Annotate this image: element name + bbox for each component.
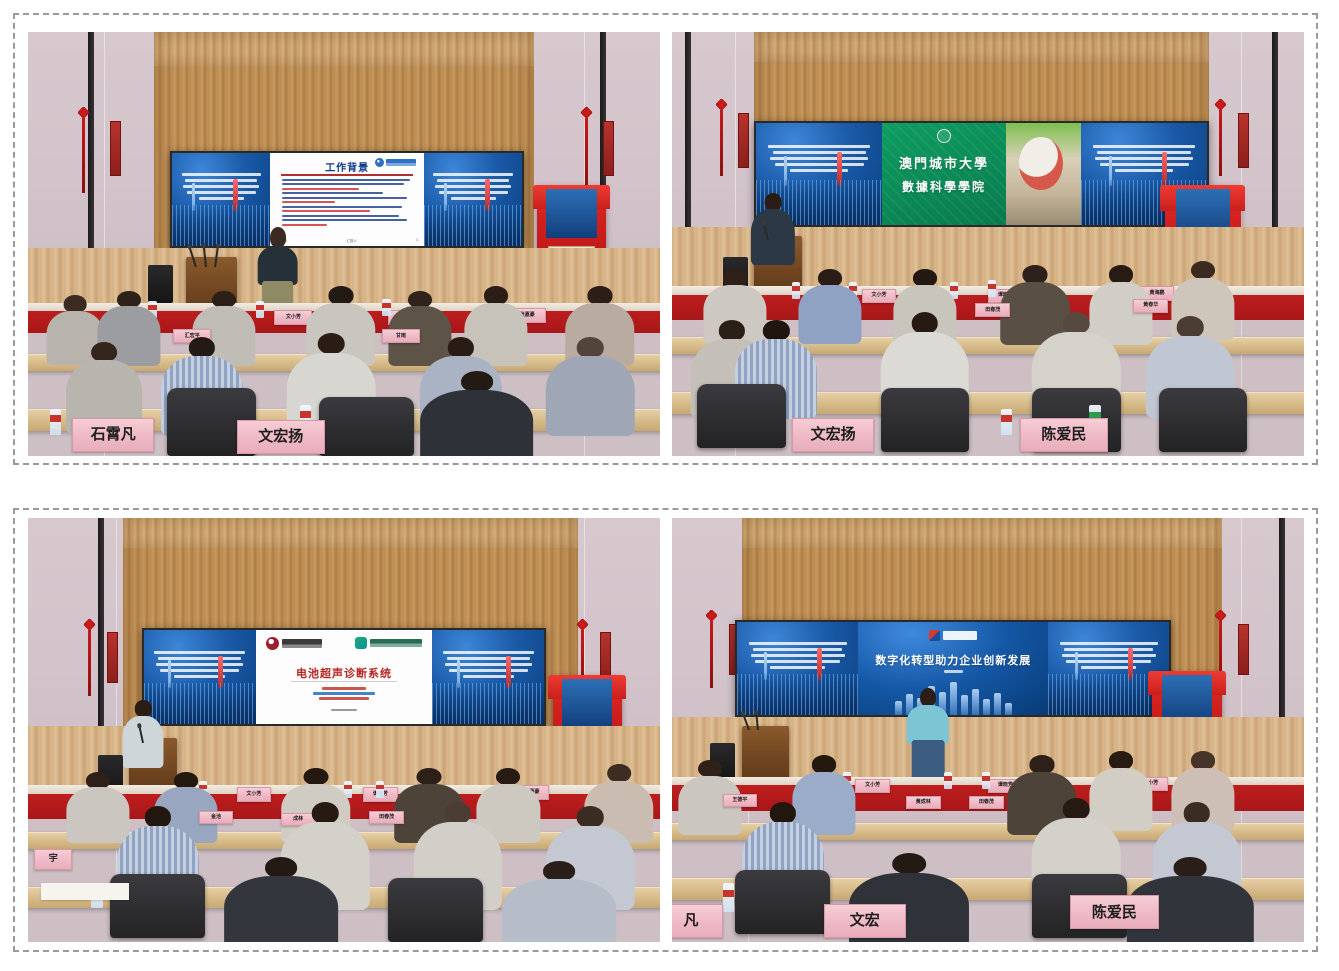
nameplate: 田春茂 — [969, 796, 1004, 810]
screen-side-left — [737, 622, 858, 716]
screen-side-right — [424, 153, 522, 247]
nameplate-front: 石霄凡 — [72, 418, 154, 452]
photo-bottom-right: 数字化转型助力企业创新发展 — [672, 518, 1304, 942]
nameplate: 黄春华 — [1133, 299, 1168, 313]
nameplate: 文小芳 — [855, 779, 890, 793]
slide-footer-right: 4 — [416, 238, 418, 243]
screen-side-right — [1048, 622, 1169, 716]
nameplate: 田春茂 — [369, 811, 404, 825]
speaker-at-podium — [123, 700, 164, 764]
presenter — [906, 688, 950, 786]
chinese-knot-decoration — [1216, 100, 1226, 176]
cas-logo — [375, 158, 416, 167]
led-video-wall: 数字化转型助力企业创新发展 — [735, 620, 1171, 718]
audience-member — [546, 337, 634, 430]
nameplate: 甘雨 — [382, 329, 420, 343]
nameplate-front: 文宏扬 — [792, 418, 874, 452]
speaker-at-podium — [751, 193, 795, 261]
led-video-wall: 工作背景 2024年 — [170, 151, 524, 249]
led-video-wall: 电池超声诊断系统 — [142, 628, 546, 726]
nameplate-front: 凡 — [672, 904, 723, 938]
nameplate: 文小芳 — [237, 787, 272, 801]
screen-side-right — [432, 630, 544, 724]
led-video-wall: 澳門城市大學 數據科學學院 — [754, 121, 1209, 227]
slide-battery-ultrasonic-diagnosis: 电池超声诊断系统 — [256, 630, 432, 724]
nameplate: 宇 — [34, 849, 72, 870]
photo-top-right: 澳門城市大學 數據科學學院 — [672, 32, 1304, 456]
photo-bottom-left: 电池超声诊断系统 — [28, 518, 660, 942]
photo-top-left: 工作背景 2024年 — [28, 32, 660, 456]
chinese-knot-decoration — [716, 100, 726, 176]
nameplate-front: 陈爱民 — [1070, 895, 1158, 929]
chinese-knot-decoration — [707, 611, 717, 687]
nameplate: 田春茂 — [975, 303, 1010, 317]
slide-title: 电池超声诊断系统 — [256, 665, 432, 681]
slide-title-line2: 數據科學學院 — [902, 178, 986, 195]
audience-member — [502, 861, 616, 942]
slide-title-line1: 澳門城市大學 — [899, 153, 989, 172]
slide-digital-transformation: 数字化转型助力企业创新发展 — [858, 622, 1048, 716]
research-institute-logo — [355, 637, 422, 649]
shenzhen-university-logo — [266, 637, 322, 650]
university-seal-icon — [937, 129, 951, 143]
nameplate-front: 陈爱民 — [1020, 418, 1108, 452]
collage-page: 工作背景 2024年 — [0, 0, 1339, 971]
nameplate-front: 文宏扬 — [237, 420, 325, 454]
slide-footer-center: 汇报人 — [347, 238, 357, 243]
slide-title: 数字化转型助力企业创新发展 — [858, 652, 1048, 668]
nameplate-front: 文宏 — [824, 904, 906, 938]
audience-member — [224, 857, 338, 942]
nameplate: 文小芳 — [862, 289, 897, 303]
slide-macau-city-university: 澳門城市大學 數據科學學院 — [882, 123, 1080, 225]
nameplate: 金池 — [199, 811, 234, 825]
chinese-knot-decoration — [85, 620, 95, 696]
nameplate: 黄成林 — [906, 796, 941, 810]
chinese-knot-decoration — [581, 108, 591, 193]
huafa-group-logo — [929, 630, 977, 641]
chinese-knot-decoration — [79, 108, 89, 193]
audience-member — [420, 371, 534, 456]
